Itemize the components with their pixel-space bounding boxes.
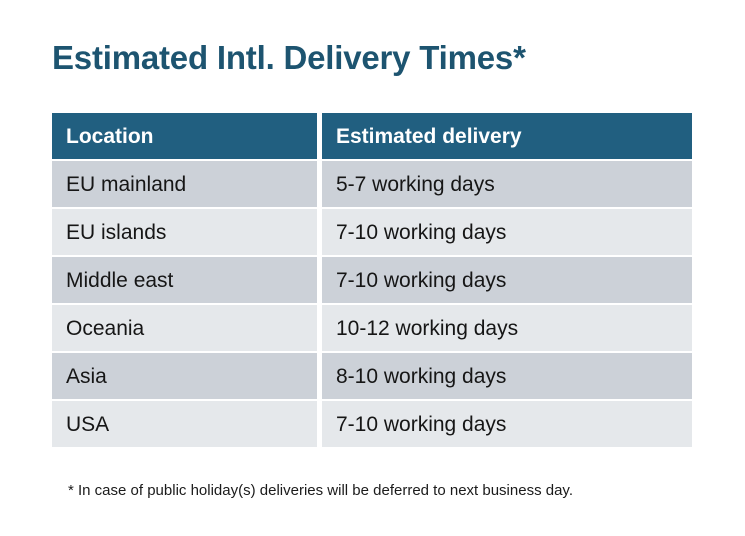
cell-location: USA <box>52 401 317 447</box>
table-row: EU mainland 5-7 working days <box>52 161 692 207</box>
cell-estimated-delivery: 7-10 working days <box>322 257 692 303</box>
column-header-estimated-delivery: Estimated delivery <box>322 113 692 159</box>
page-title: Estimated Intl. Delivery Times* <box>52 38 526 78</box>
column-header-location: Location <box>52 113 317 159</box>
table-row: Oceania 10-12 working days <box>52 305 692 351</box>
table-header-row: Location Estimated delivery <box>52 113 692 159</box>
cell-estimated-delivery: 5-7 working days <box>322 161 692 207</box>
cell-estimated-delivery: 7-10 working days <box>322 209 692 255</box>
table-row: Asia 8-10 working days <box>52 353 692 399</box>
footnote-text: * In case of public holiday(s) deliverie… <box>68 481 573 501</box>
cell-estimated-delivery: 7-10 working days <box>322 401 692 447</box>
table-row: USA 7-10 working days <box>52 401 692 447</box>
table-row: EU islands 7-10 working days <box>52 209 692 255</box>
cell-location: Middle east <box>52 257 317 303</box>
delivery-times-page: Estimated Intl. Delivery Times* Location… <box>0 0 745 536</box>
delivery-times-table: Location Estimated delivery EU mainland … <box>52 113 692 447</box>
cell-estimated-delivery: 10-12 working days <box>322 305 692 351</box>
cell-location: EU islands <box>52 209 317 255</box>
cell-estimated-delivery: 8-10 working days <box>322 353 692 399</box>
cell-location: Oceania <box>52 305 317 351</box>
cell-location: Asia <box>52 353 317 399</box>
cell-location: EU mainland <box>52 161 317 207</box>
table-row: Middle east 7-10 working days <box>52 257 692 303</box>
